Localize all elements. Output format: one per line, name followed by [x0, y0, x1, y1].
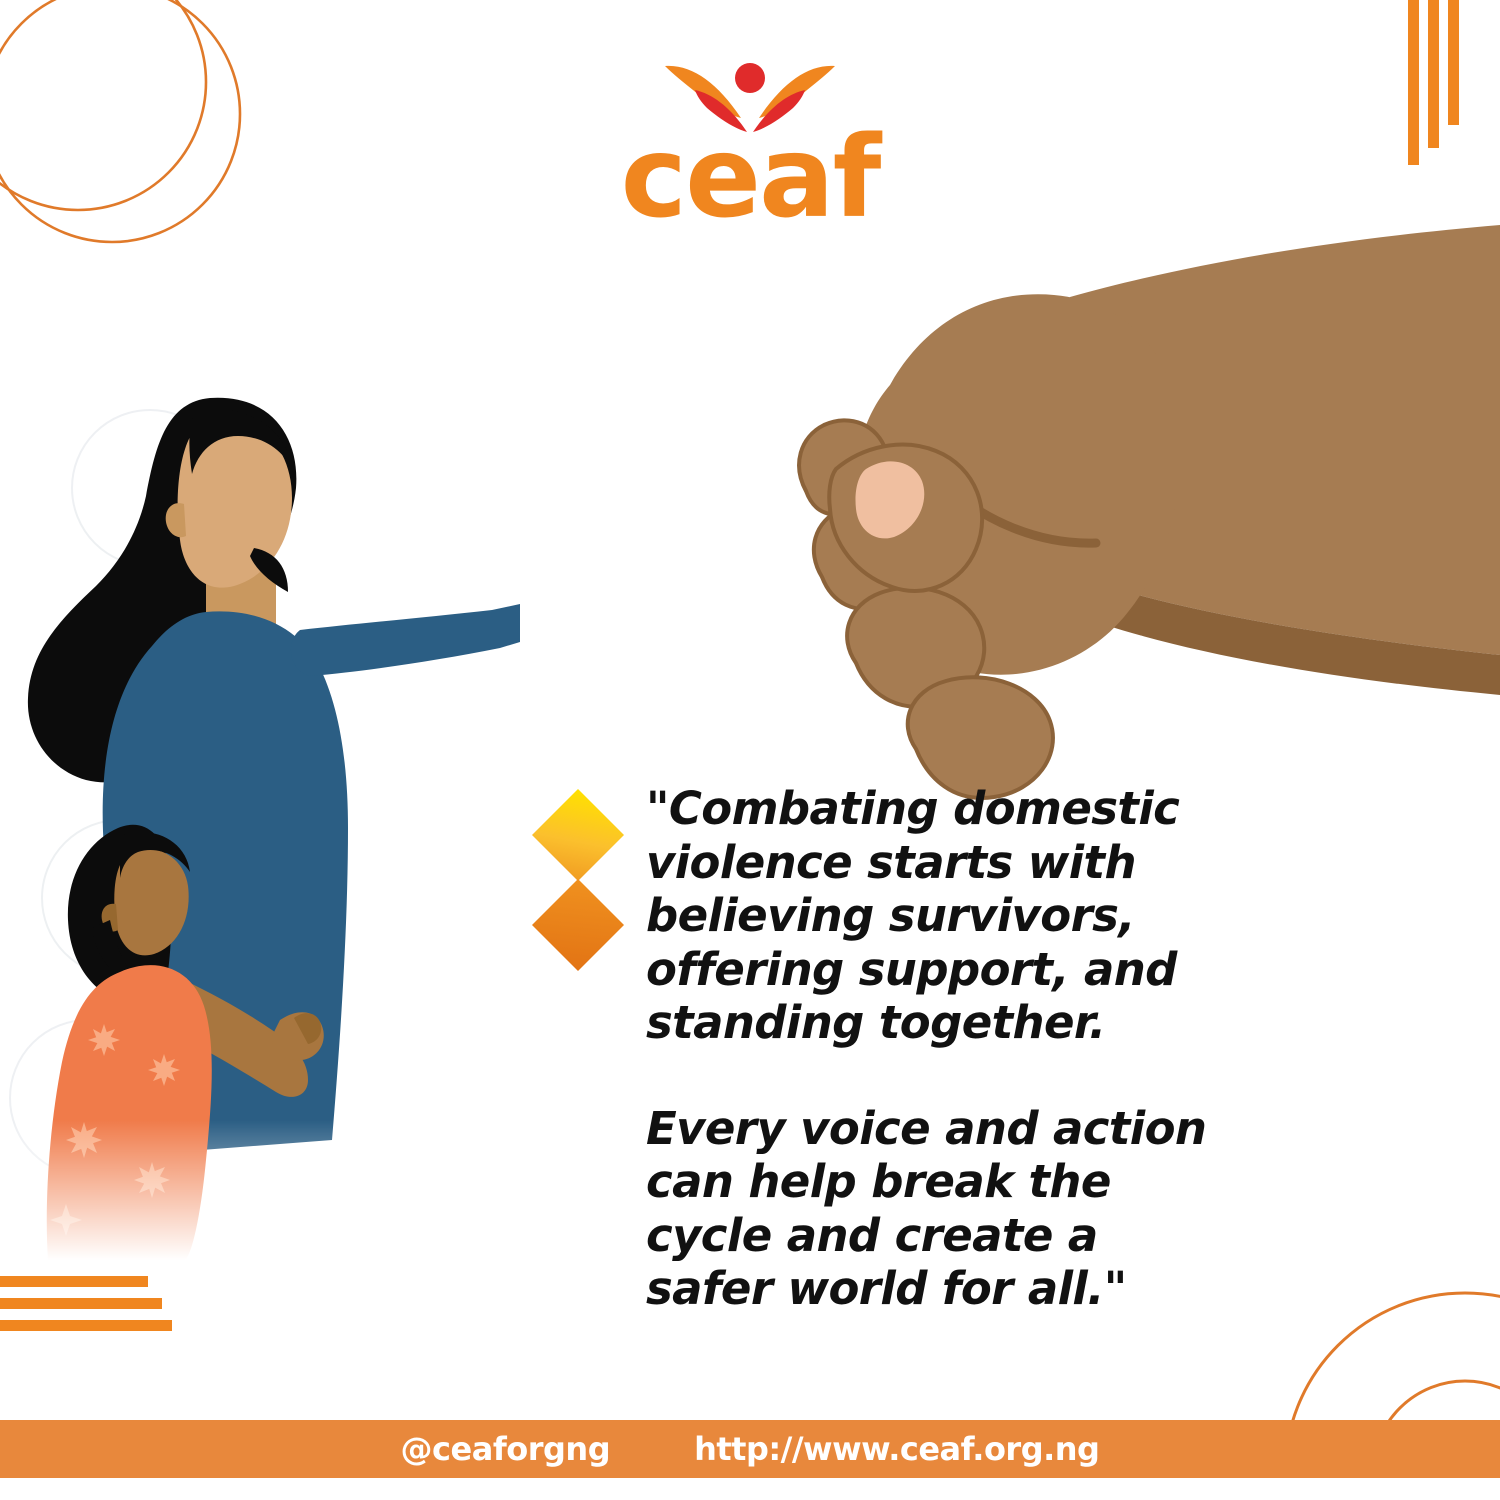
woman-and-child-illustration [0, 380, 520, 1260]
decorative-bars-bottom-left [0, 1270, 210, 1350]
brand-logo: ceaf [0, 56, 1500, 226]
diamond-bottom [532, 879, 624, 971]
clenched-fist-illustration [770, 225, 1500, 815]
poster-canvas: ceaf [0, 0, 1500, 1500]
diamond-bullet-decoration [530, 787, 630, 972]
brand-wordmark: ceaf [621, 130, 880, 226]
social-handle[interactable]: @ceaforgng [401, 1430, 611, 1468]
woman-arm [291, 604, 520, 676]
diamond-top [532, 789, 624, 881]
website-url[interactable]: http://www.ceaf.org.ng [694, 1430, 1099, 1468]
floor-fade [0, 1120, 520, 1260]
finger-pinky [908, 677, 1053, 798]
footer-bar: @ceaforgng http://www.ceaf.org.ng [0, 1420, 1500, 1478]
quote-paragraph-2: Every voice and action can help break th… [646, 1102, 1230, 1316]
quote-paragraph-1: "Combating domestic violence starts with… [646, 782, 1230, 1050]
quote-block: "Combating domestic violence starts with… [530, 782, 1230, 1316]
